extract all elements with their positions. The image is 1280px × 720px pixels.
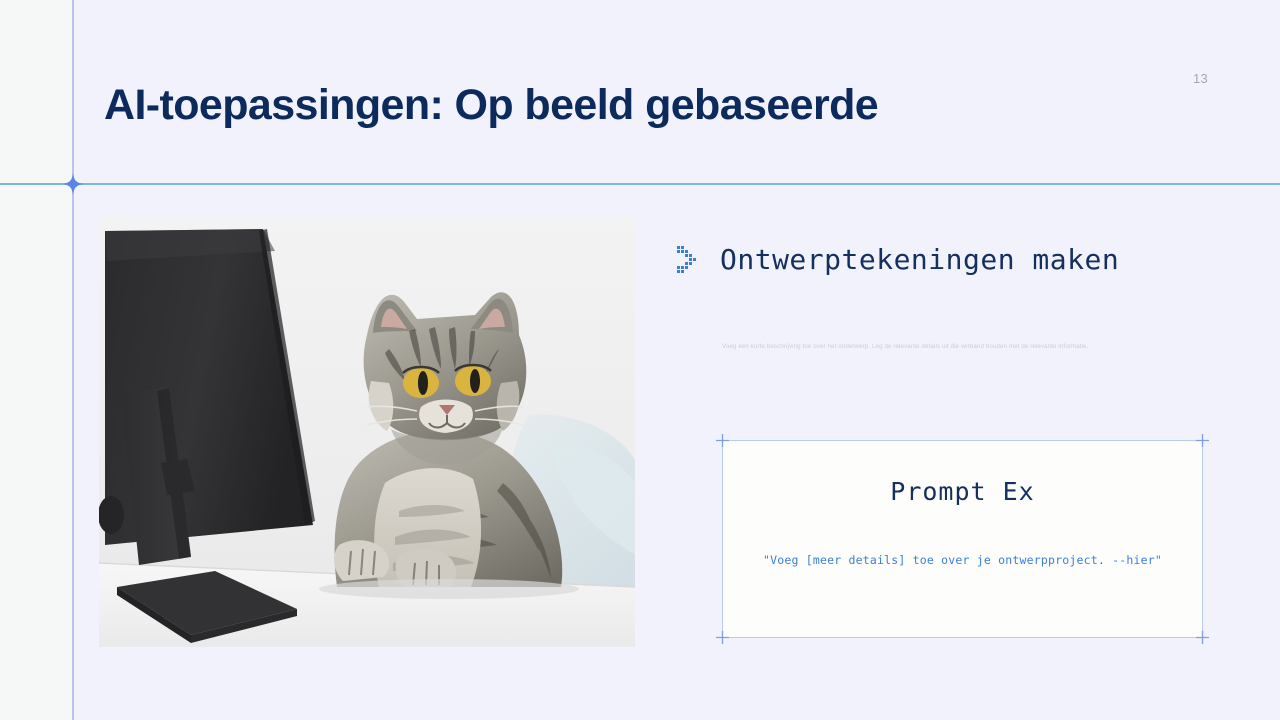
prompt-example-text: "Voeg [meer details] toe over je ontwerp… [723,553,1202,567]
slide-canvas: 13 AI-toepassingen: Op beeld gebaseerde [0,0,1280,720]
horizontal-guide-line [0,183,1280,185]
section-heading-text: Ontwerptekeningen maken [720,243,1119,276]
prompt-title: Prompt Ex [723,477,1202,506]
pixel-chevron-right-icon [676,245,698,275]
prompt-example-box[interactable]: Prompt Ex "Voeg [meer details] toe over … [722,440,1203,638]
page-number: 13 [1193,71,1208,86]
cat-at-monitor-photo [99,215,635,647]
vertical-guide-line [72,0,74,720]
left-gutter-lower [0,184,72,720]
page-title: AI-toepassingen: Op beeld gebaseerde [104,78,878,132]
section-description: Voeg een korte beschrijving toe over het… [722,342,1192,351]
section-heading-row: Ontwerptekeningen maken [676,243,1119,276]
